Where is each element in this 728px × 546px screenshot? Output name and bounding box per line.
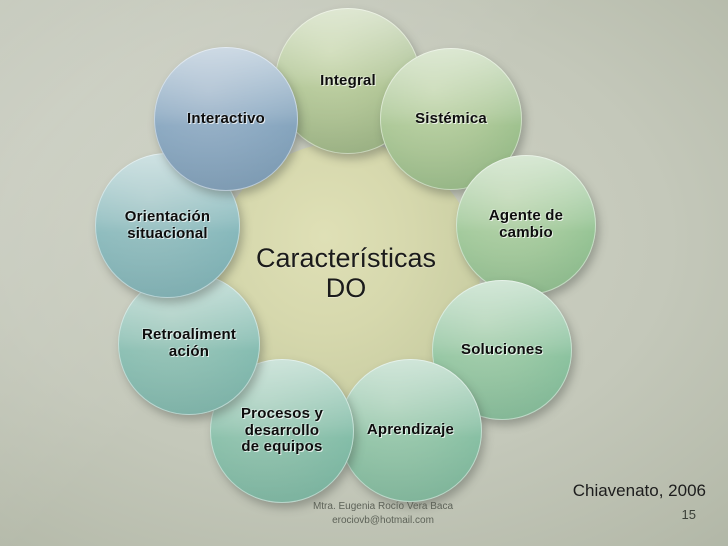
node-label-sistemica: Sistémica xyxy=(409,111,493,128)
slide-canvas: Características DO Integral Sistémica Ag… xyxy=(0,0,728,546)
node-label-retroalimentacion: Retroaliment ación xyxy=(136,327,242,361)
node-label-interactivo: Interactivo xyxy=(181,111,271,128)
node-agente-de-cambio[interactable]: Agente de cambio xyxy=(456,155,596,295)
credit-email: erociovb@hotmail.com xyxy=(283,514,483,528)
credit-name: Mtra. Eugenia Rocío Vera Baca xyxy=(283,500,483,514)
node-label-integral: Integral xyxy=(314,73,382,90)
node-label-agente-de-cambio: Agente de cambio xyxy=(483,208,569,242)
node-label-orientacion-situacional: Orientación situacional xyxy=(119,209,217,243)
node-label-procesos-y-desarrollo-de-equipos: Procesos y desarrollo de equipos xyxy=(235,406,329,456)
node-aprendizaje[interactable]: Aprendizaje xyxy=(339,359,482,502)
source-citation: Chiavenato, 2006 xyxy=(573,481,706,501)
node-label-soluciones: Soluciones xyxy=(455,342,549,359)
page-number: 15 xyxy=(682,507,696,522)
footer-credit: Mtra. Eugenia Rocío Vera Baca erociovb@h… xyxy=(283,500,483,527)
center-hub-label: Características DO xyxy=(256,243,436,303)
node-label-aprendizaje: Aprendizaje xyxy=(361,422,460,439)
node-interactivo[interactable]: Interactivo xyxy=(154,47,298,191)
